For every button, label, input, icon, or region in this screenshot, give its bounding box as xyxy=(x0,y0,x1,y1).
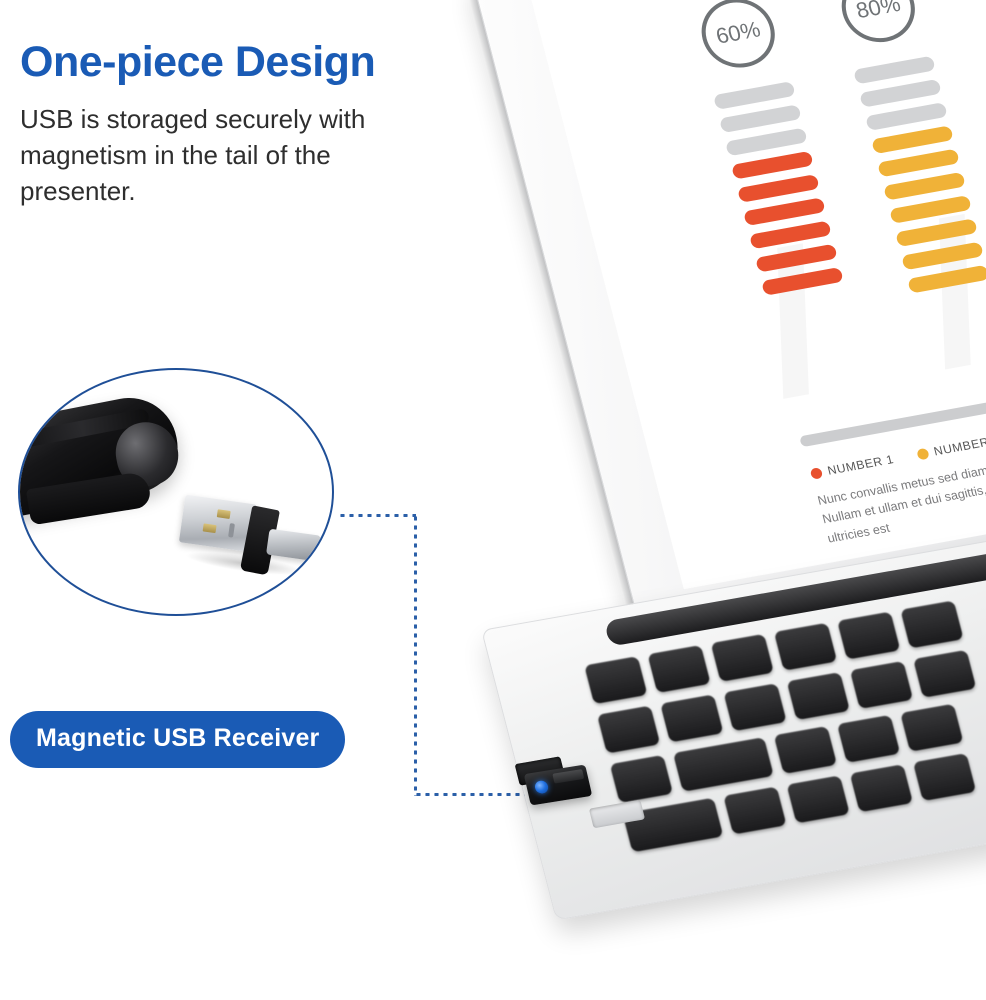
led-indicator-icon xyxy=(534,780,550,795)
bar-segment xyxy=(743,197,826,226)
status-badge: Magnetic USB Receiver xyxy=(10,711,345,768)
percent-ring-2: 80% xyxy=(834,0,923,48)
connector-segment-top xyxy=(338,514,416,517)
chart-column-1: 60% xyxy=(688,0,852,319)
legend-dot-icon xyxy=(916,447,930,460)
keyboard-key xyxy=(900,600,963,648)
keyboard-key xyxy=(913,650,976,698)
bar-segment xyxy=(877,149,960,178)
legend-label: NUMBER 1 xyxy=(826,452,895,478)
legend-item: NUMBER 1 xyxy=(916,433,986,462)
keyboard-key xyxy=(584,656,647,704)
keyboard-key xyxy=(786,775,849,823)
connector-segment-vertical xyxy=(414,514,417,796)
keyboard-key xyxy=(711,634,774,682)
subtitle-text: USB is storaged securely with magnetism … xyxy=(20,102,440,210)
bar-segment xyxy=(901,241,984,270)
bar-stack-1 xyxy=(713,81,844,296)
keyboard-key xyxy=(647,645,710,693)
product-marketing-image: One-piece Design USB is storaged securel… xyxy=(0,0,986,1000)
keyboard-key xyxy=(837,611,900,659)
bar-segment xyxy=(871,125,954,154)
laptop-photo: 60% xyxy=(455,0,986,1000)
keyboard-key xyxy=(837,715,900,763)
usb-receiver-photo xyxy=(175,489,325,590)
keyboard-key xyxy=(913,753,976,801)
keyboard-key xyxy=(673,737,774,792)
bar-segment xyxy=(713,81,796,110)
keyboard-key xyxy=(723,786,786,834)
page-title: One-piece Design xyxy=(20,38,375,87)
keyboard-key xyxy=(597,705,660,753)
bar-segment xyxy=(725,128,808,157)
legend-label: NUMBER 1 xyxy=(932,433,986,459)
keyboard-key xyxy=(900,704,963,752)
bar-segment xyxy=(853,56,936,85)
keyboard-key xyxy=(660,694,723,742)
card-slot xyxy=(589,800,645,828)
legend-dot-icon xyxy=(810,467,824,480)
percent-ring-3: 30% xyxy=(974,0,986,22)
bar-segment xyxy=(889,195,972,224)
keyboard-key xyxy=(787,672,850,720)
bar-segment xyxy=(755,244,838,273)
dongle-top-surface xyxy=(552,769,584,783)
legend-item: NUMBER 1 xyxy=(809,452,895,481)
keyboard-key xyxy=(850,661,913,709)
keyboard-key xyxy=(723,683,786,731)
product-photo-circle xyxy=(18,368,334,616)
segmented-bar-chart: 60% xyxy=(688,0,986,319)
percent-ring-1: 60% xyxy=(694,0,783,73)
bar-segment xyxy=(895,218,978,247)
bar-segment xyxy=(731,151,814,180)
bar-segment xyxy=(737,174,820,203)
keyboard-key xyxy=(774,623,837,671)
bar-stack-2 xyxy=(853,56,986,294)
chart-column-2: 80% xyxy=(828,0,986,294)
bar-segment xyxy=(719,104,802,133)
keyboard-key xyxy=(774,726,837,774)
usb-a-slot xyxy=(228,523,235,538)
bar-segment xyxy=(761,267,844,296)
bar-segment xyxy=(859,79,942,108)
usb-c-connector xyxy=(266,529,321,562)
bar-segment xyxy=(749,220,832,249)
keyboard-key xyxy=(850,764,913,812)
bar-segment xyxy=(865,102,948,131)
bar-segment xyxy=(883,172,966,201)
